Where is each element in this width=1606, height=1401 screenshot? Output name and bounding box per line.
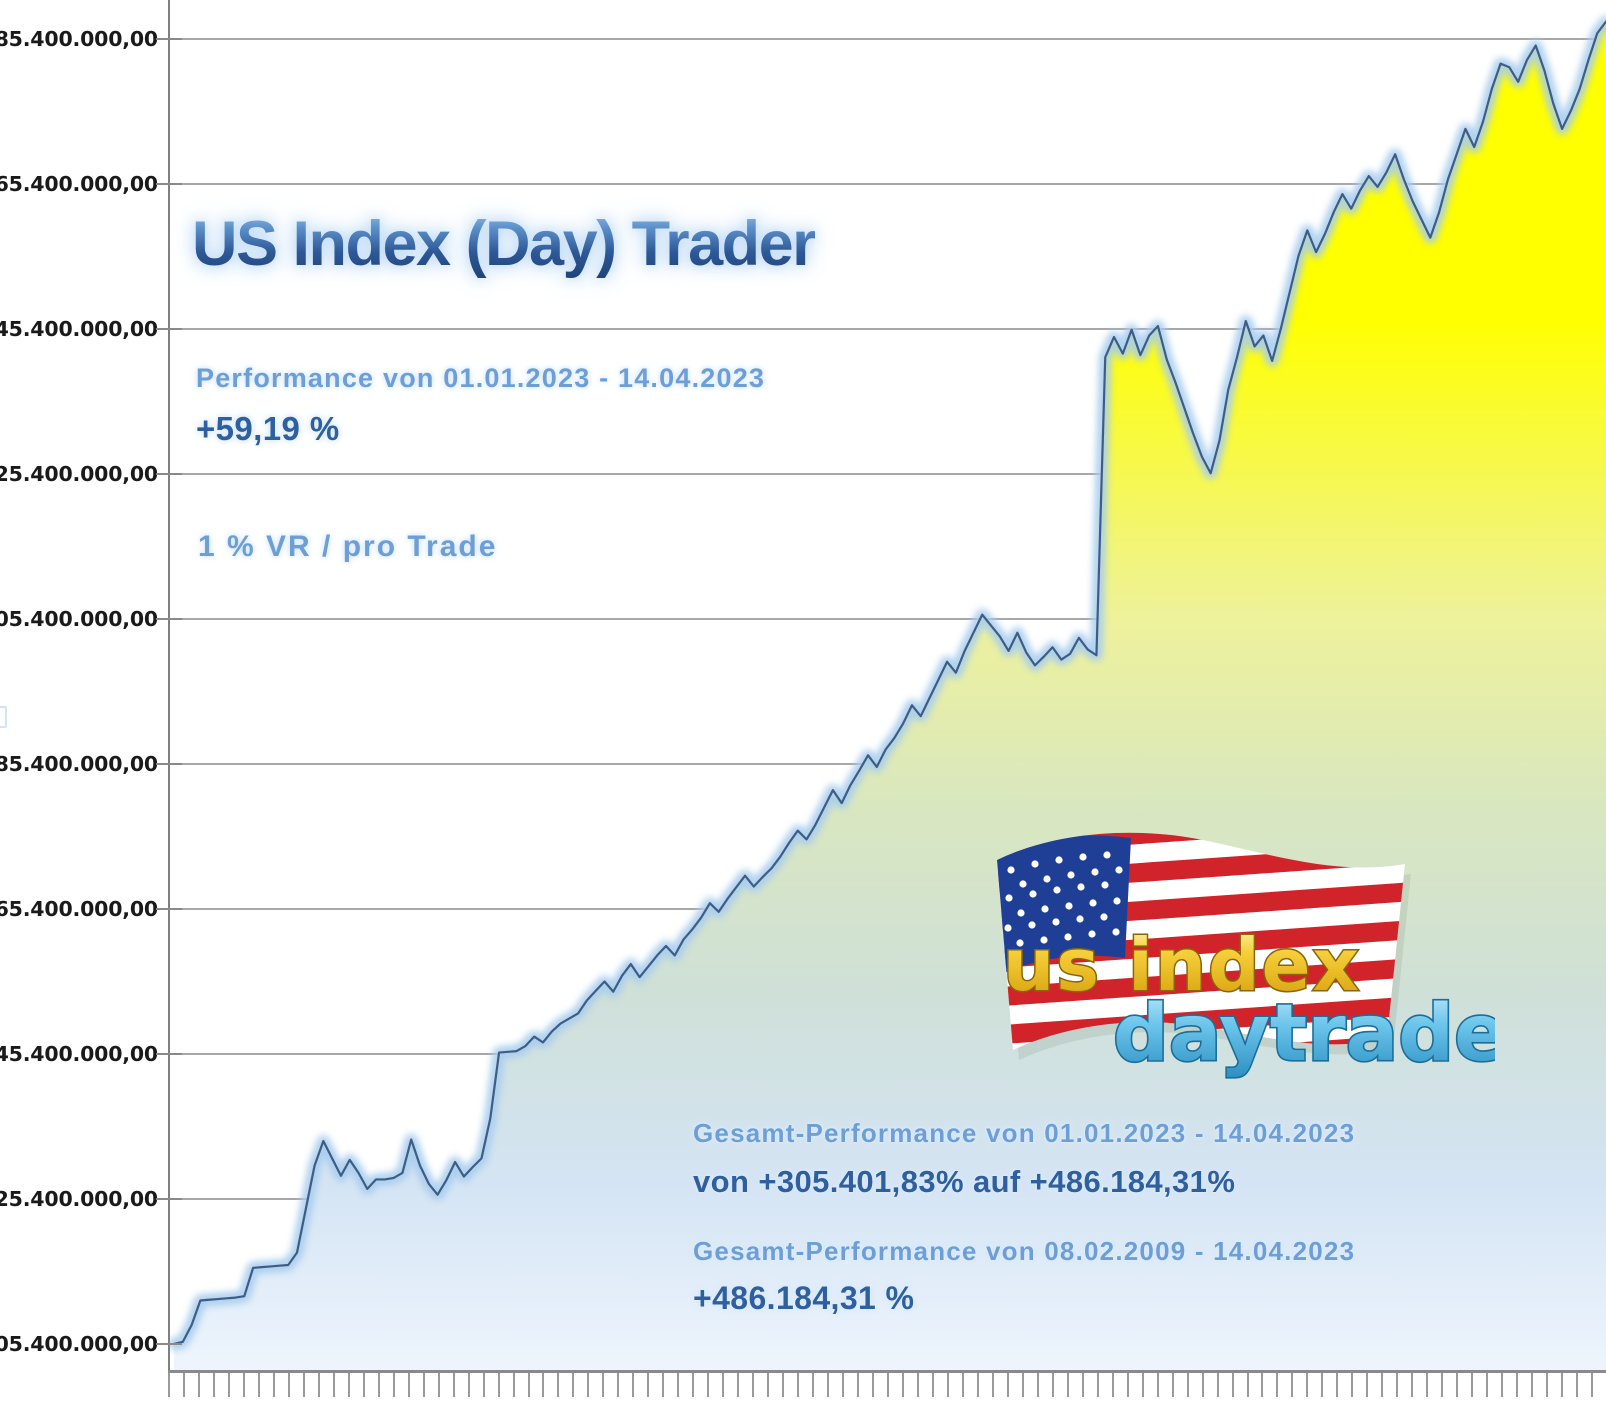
x-axis-tick: [797, 1373, 799, 1397]
x-axis-tick: [1157, 1373, 1159, 1397]
y-axis-tick-label: 345.400.000,00: [0, 1042, 158, 1066]
x-axis-tick: [1291, 1373, 1293, 1397]
x-axis-tick: [662, 1373, 664, 1397]
x-axis-tick: [198, 1373, 200, 1397]
x-axis-tick: [692, 1373, 694, 1397]
x-axis-tick: [258, 1373, 260, 1397]
x-axis-tick: [273, 1373, 275, 1397]
x-axis-tick: [213, 1373, 215, 1397]
x-axis-tick: [1306, 1373, 1308, 1397]
x-axis-tick: [1261, 1373, 1263, 1397]
y-axis-tick-mark: [156, 1198, 182, 1200]
x-axis-tick: [1381, 1373, 1383, 1397]
total-performance-period-1: Gesamt-Performance von 01.01.2023 - 14.0…: [693, 1118, 1355, 1149]
x-axis-tick: [1172, 1373, 1174, 1397]
y-axis-tick-mark: [156, 1053, 182, 1055]
x-axis-tick: [1082, 1373, 1084, 1397]
y-axis-tick-label: 385.400.000,00: [0, 752, 158, 776]
x-axis-tick: [363, 1373, 365, 1397]
y-axis-tick-mark: [156, 38, 182, 40]
x-axis-tick: [438, 1373, 440, 1397]
x-axis-tick: [707, 1373, 709, 1397]
x-axis-tick: [947, 1373, 949, 1397]
y-axis-tick-mark: [156, 183, 182, 185]
x-axis-tick: [1097, 1373, 1099, 1397]
chart-canvas: 485.400.000,00465.400.000,00445.400.000,…: [0, 0, 1606, 1401]
x-axis-tick: [378, 1373, 380, 1397]
x-axis-tick: [1127, 1373, 1129, 1397]
x-axis-tick: [483, 1373, 485, 1397]
x-axis-tick: [1576, 1373, 1578, 1397]
x-axis-tick: [1022, 1373, 1024, 1397]
y-axis-tick-label: 365.400.000,00: [0, 897, 158, 921]
x-axis-tick: [977, 1373, 979, 1397]
performance-period-label: Performance von 01.01.2023 - 14.04.2023: [196, 363, 765, 394]
x-axis-tick: [857, 1373, 859, 1397]
performance-percent-value: +59,19 %: [196, 410, 340, 448]
y-axis-tick-label: 405.400.000,00: [0, 607, 158, 631]
x-axis-tick: [1471, 1373, 1473, 1397]
x-axis-tick: [617, 1373, 619, 1397]
x-axis-tick: [557, 1373, 559, 1397]
x-axis-tick: [318, 1373, 320, 1397]
risk-per-trade-note: 1 % VR / pro Trade: [198, 530, 497, 564]
x-axis-tick: [887, 1373, 889, 1397]
total-performance-period-2: Gesamt-Performance von 08.02.2009 - 14.0…: [693, 1236, 1355, 1267]
x-axis-tick: [1187, 1373, 1189, 1397]
y-axis-tick-mark: [156, 1343, 182, 1345]
x-axis-tick: [1591, 1373, 1593, 1397]
x-axis-tick: [1531, 1373, 1533, 1397]
x-axis-tick: [1276, 1373, 1278, 1397]
x-axis-tick: [1202, 1373, 1204, 1397]
x-axis-tick: [677, 1373, 679, 1397]
x-axis-tick: [183, 1373, 185, 1397]
x-axis-ticks: [168, 1373, 1606, 1401]
x-axis-tick: [513, 1373, 515, 1397]
total-performance-value-2: +486.184,31 %: [693, 1280, 914, 1317]
x-axis-tick: [1486, 1373, 1488, 1397]
x-axis-tick: [1351, 1373, 1353, 1397]
x-axis-tick: [1007, 1373, 1009, 1397]
y-axis-tick-label: 325.400.000,00: [0, 1187, 158, 1211]
x-axis-tick: [992, 1373, 994, 1397]
y-axis-tick-label: 485.400.000,00: [0, 27, 158, 51]
x-axis-tick: [767, 1373, 769, 1397]
x-axis-tick: [393, 1373, 395, 1397]
x-axis-tick: [1112, 1373, 1114, 1397]
page-title: US Index (Day) Trader: [192, 208, 815, 280]
x-axis-tick: [587, 1373, 589, 1397]
x-axis-tick: [872, 1373, 874, 1397]
x-axis-tick: [647, 1373, 649, 1397]
x-axis-tick: [1321, 1373, 1323, 1397]
y-axis-tick-mark: [156, 473, 182, 475]
x-axis-tick: [348, 1373, 350, 1397]
x-axis-tick: [1561, 1373, 1563, 1397]
y-axis-tick-label: 425.400.000,00: [0, 462, 158, 486]
y-axis-line: [168, 0, 170, 1372]
x-axis-tick: [1546, 1373, 1548, 1397]
x-axis-tick: [1441, 1373, 1443, 1397]
x-axis-tick: [1411, 1373, 1413, 1397]
y-axis-tick-mark: [156, 618, 182, 620]
x-axis-tick: [722, 1373, 724, 1397]
x-axis-tick: [737, 1373, 739, 1397]
y-axis-tick-mark: [156, 908, 182, 910]
x-axis-tick: [1232, 1373, 1234, 1397]
x-axis-tick: [228, 1373, 230, 1397]
x-axis-tick: [303, 1373, 305, 1397]
x-axis-tick: [1217, 1373, 1219, 1397]
total-performance-range-1: von +305.401,83% auf +486.184,31%: [693, 1164, 1235, 1200]
x-axis-tick: [1516, 1373, 1518, 1397]
x-axis-tick: [1366, 1373, 1368, 1397]
x-axis-tick: [842, 1373, 844, 1397]
y-axis-tick-mark: [156, 763, 182, 765]
x-axis-tick: [408, 1373, 410, 1397]
x-axis-tick: [572, 1373, 574, 1397]
y-axis-tick-mark: [156, 328, 182, 330]
x-axis-tick: [962, 1373, 964, 1397]
x-axis-tick: [1396, 1373, 1398, 1397]
x-axis-tick: [288, 1373, 290, 1397]
x-axis-tick: [168, 1373, 170, 1397]
logo-wordmark-bottom: daytrader: [1113, 989, 1495, 1079]
x-axis-tick: [902, 1373, 904, 1397]
x-axis-tick: [917, 1373, 919, 1397]
x-axis-tick: [932, 1373, 934, 1397]
x-axis-tick: [1037, 1373, 1039, 1397]
x-axis-tick: [1142, 1373, 1144, 1397]
x-axis-tick: [632, 1373, 634, 1397]
x-axis-tick: [1456, 1373, 1458, 1397]
x-axis-tick: [1247, 1373, 1249, 1397]
x-axis-tick: [333, 1373, 335, 1397]
x-axis-tick: [1426, 1373, 1428, 1397]
y-axis-tick-label: 305.400.000,00: [0, 1332, 158, 1356]
x-axis-tick: [1501, 1373, 1503, 1397]
x-axis-tick: [528, 1373, 530, 1397]
x-axis-tick: [827, 1373, 829, 1397]
x-axis-tick: [468, 1373, 470, 1397]
x-axis-tick: [453, 1373, 455, 1397]
us-index-daytrader-logo: us index daytrader: [935, 812, 1495, 1090]
x-axis-tick: [243, 1373, 245, 1397]
x-axis-tick: [1052, 1373, 1054, 1397]
x-axis-tick: [498, 1373, 500, 1397]
x-axis-tick: [602, 1373, 604, 1397]
x-axis-tick: [782, 1373, 784, 1397]
y-axis-tick-label: 445.400.000,00: [0, 317, 158, 341]
y-axis-tick-label: 465.400.000,00: [0, 172, 158, 196]
x-axis-tick: [1067, 1373, 1069, 1397]
us-flag-icon: us index daytrader: [935, 812, 1495, 1090]
x-axis-tick: [542, 1373, 544, 1397]
x-axis-tick: [812, 1373, 814, 1397]
clipped-edge-artifact: [0, 706, 7, 728]
x-axis-tick: [1336, 1373, 1338, 1397]
x-axis-tick: [423, 1373, 425, 1397]
x-axis-tick: [752, 1373, 754, 1397]
